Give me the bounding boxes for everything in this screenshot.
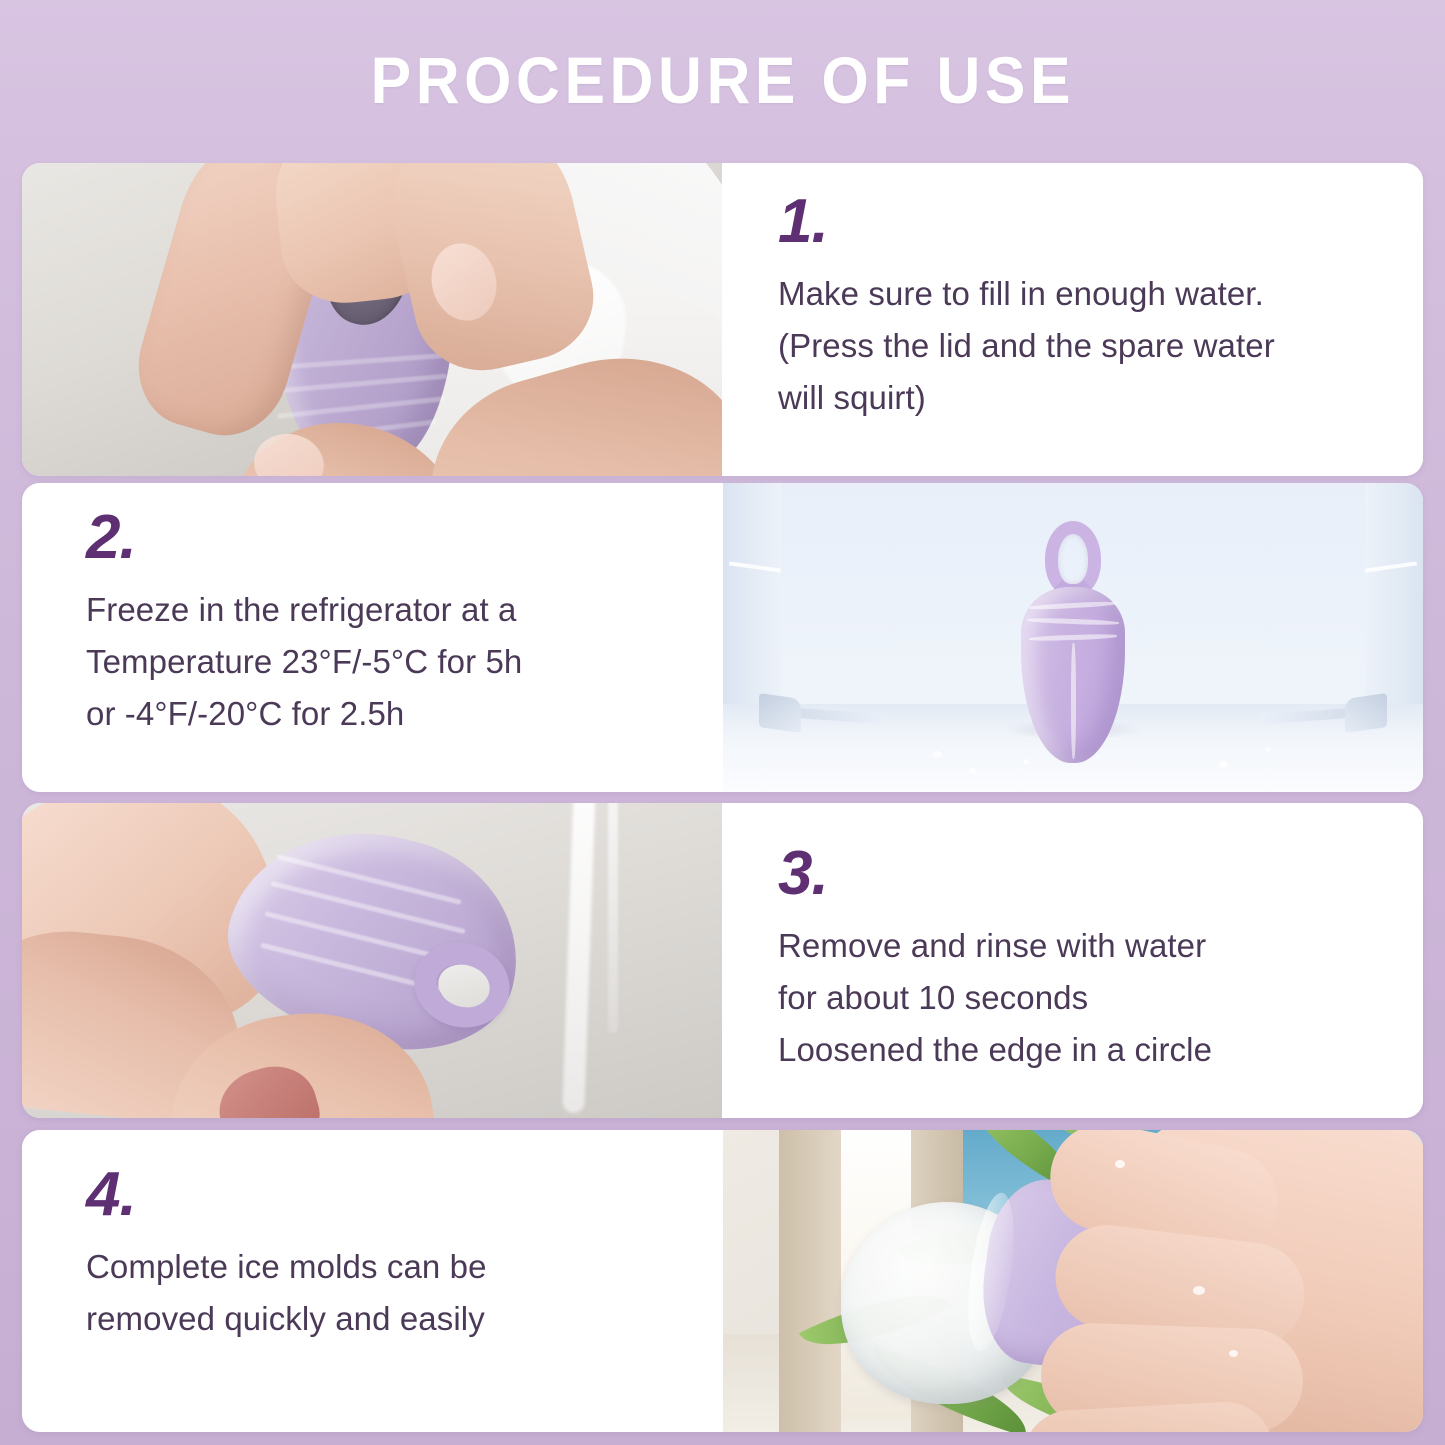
water-droplet <box>1193 1286 1205 1295</box>
step-1-body: Make sure to fill in enough water. (Pres… <box>778 268 1389 424</box>
mold-loop-handle <box>1045 521 1101 597</box>
frost-flake <box>1023 759 1029 764</box>
step-1-text: 1. Make sure to fill in enough water. (P… <box>722 163 1423 476</box>
step-4-body: Complete ice molds can be removed quickl… <box>86 1241 683 1345</box>
frost-flake <box>933 751 942 758</box>
header-bar: PROCEDURE OF USE <box>0 0 1445 160</box>
step-1-photo <box>22 163 722 476</box>
water-droplet <box>1115 1160 1125 1168</box>
step-3-body: Remove and rinse with water for about 10… <box>778 920 1389 1076</box>
freezer-bracket-right <box>1345 693 1387 733</box>
step-2-body: Freeze in the refrigerator at a Temperat… <box>86 584 683 740</box>
step-3-text: 3. Remove and rinse with water for about… <box>722 803 1423 1118</box>
mold-center-seam <box>1071 643 1076 759</box>
step-2-photo <box>723 483 1423 792</box>
step-1-line-1: Make sure to fill in enough water. <box>778 268 1389 320</box>
step-3-line-3: Loosened the edge in a circle <box>778 1024 1389 1076</box>
step-card-1: 1. Make sure to fill in enough water. (P… <box>22 163 1423 476</box>
step-1-line-2: (Press the lid and the spare water <box>778 320 1389 372</box>
step-2-text: 2. Freeze in the refrigerator at a Tempe… <box>22 483 723 792</box>
step-4-line-1: Complete ice molds can be <box>86 1241 683 1293</box>
page-title: PROCEDURE OF USE <box>370 47 1074 113</box>
step-3-photo <box>22 803 722 1118</box>
step-1-number: 1. <box>778 193 1389 252</box>
freezer-bracket-left <box>759 693 801 733</box>
frost-flake <box>1219 761 1227 768</box>
step-2-line-2: Temperature 23°F/-5°C for 5h <box>86 636 683 688</box>
water-droplet <box>1229 1350 1238 1357</box>
step-3-line-1: Remove and rinse with water <box>778 920 1389 972</box>
step-2-number: 2. <box>86 509 683 568</box>
step-card-4: 4. Complete ice molds can be removed qui… <box>22 1130 1423 1432</box>
step-card-3: 3. Remove and rinse with water for about… <box>22 803 1423 1118</box>
window-frame <box>779 1130 841 1432</box>
step-3-number: 3. <box>778 845 1389 904</box>
water-stream <box>562 803 596 1113</box>
step-1-line-3: will squirt) <box>778 372 1389 424</box>
step-2-line-3: or -4°F/-20°C for 2.5h <box>86 688 683 740</box>
step-4-photo <box>723 1130 1423 1432</box>
frost-flake <box>1265 747 1271 752</box>
step-3-line-2: for about 10 seconds <box>778 972 1389 1024</box>
water-stream-thin <box>608 803 618 1033</box>
step-card-2: 2. Freeze in the refrigerator at a Tempe… <box>22 483 1423 792</box>
step-4-number: 4. <box>86 1166 683 1225</box>
step-4-text: 4. Complete ice molds can be removed qui… <box>22 1130 723 1432</box>
step-4-line-2: removed quickly and easily <box>86 1293 683 1345</box>
step-2-line-1: Freeze in the refrigerator at a <box>86 584 683 636</box>
frost-flake <box>969 768 976 774</box>
